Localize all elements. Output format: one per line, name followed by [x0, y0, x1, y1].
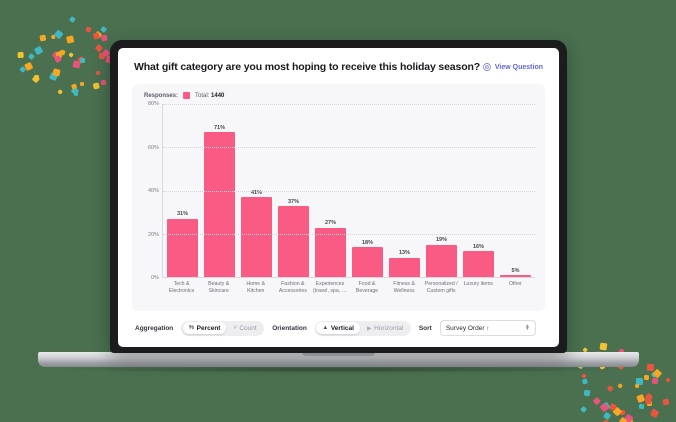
x-tick-label: Tech & Electronics	[163, 281, 200, 307]
bar[interactable]	[167, 219, 198, 277]
orientation-vertical-button[interactable]: ▲Vertical	[316, 322, 360, 334]
bar[interactable]	[315, 228, 346, 277]
bar-value-label: 19%	[436, 237, 447, 243]
x-tick-label: Beauty & Skincare	[200, 281, 237, 307]
orientation-horizontal-button[interactable]: ▶Horizontal	[361, 322, 409, 334]
bar-value-label: 18%	[362, 240, 373, 246]
y-tick-label: 20%	[148, 232, 159, 238]
orientation-toggle-group[interactable]: ▲Vertical▶Horizontal	[315, 321, 411, 336]
orientation-label: Orientation	[272, 325, 307, 332]
percent-icon: %	[189, 325, 194, 331]
aggregation-count-button[interactable]: #Count	[227, 322, 262, 334]
bar-value-label: 37%	[288, 199, 299, 205]
bar[interactable]	[278, 206, 309, 277]
gridline	[163, 191, 535, 192]
x-tick-label: Fitness & Wellness	[386, 281, 423, 307]
x-tick-label: Home & Kitchen	[237, 281, 274, 307]
bar-value-label: 5%	[512, 268, 520, 274]
chevron-updown-icon: ▲▼	[525, 325, 530, 331]
bar-value-label: 71%	[214, 125, 225, 131]
bar[interactable]	[204, 132, 235, 277]
plot-wrapper: 0%20%40%60%80% 31%71%41%37%27%18%13%19%1…	[140, 104, 535, 278]
bar[interactable]	[463, 251, 494, 277]
x-axis: Tech & ElectronicsBeauty & SkincareHome …	[162, 281, 535, 307]
legend-total-value: 1440	[211, 93, 224, 99]
bar-value-label: 31%	[177, 211, 188, 217]
bar[interactable]	[500, 275, 531, 277]
x-tick-label: Other	[497, 281, 534, 307]
y-tick-label: 80%	[148, 101, 159, 107]
bar-value-label: 16%	[473, 244, 484, 250]
bar[interactable]	[426, 245, 457, 277]
aggregation-toggle-group[interactable]: %Percent#Count	[181, 321, 264, 336]
bar[interactable]	[389, 258, 420, 277]
aggregation-percent-button[interactable]: %Percent	[183, 322, 227, 334]
view-question-button[interactable]: View Question	[483, 63, 543, 71]
laptop-screen: What gift category are you most hoping t…	[118, 48, 559, 347]
x-tick-label: Fashion & Accessories	[274, 281, 311, 307]
legend-responses-label: Responses:	[144, 93, 178, 99]
card-header: What gift category are you most hoping t…	[132, 61, 545, 73]
sort-select-value: Survey Order ↑	[446, 325, 490, 332]
y-tick-label: 0%	[151, 275, 159, 281]
x-tick-label: Luxury items	[460, 281, 497, 307]
y-tick-label: 60%	[148, 145, 159, 151]
page-title: What gift category are you most hoping t…	[134, 61, 480, 73]
orientation-option-label: Vertical	[331, 325, 354, 332]
legend-total: Total: 1440	[195, 93, 224, 99]
view-question-label: View Question	[495, 64, 543, 71]
chart-legend: Responses: Total: 1440	[140, 92, 535, 99]
sort-select[interactable]: Survey Order ↑ ▲▼	[440, 320, 536, 336]
sort-label: Sort	[419, 325, 432, 332]
gridline	[163, 104, 535, 105]
aggregation-option-label: Count	[239, 325, 256, 332]
gridline	[163, 234, 535, 235]
bar-value-label: 27%	[325, 220, 336, 226]
bar-vertical-icon: ▲	[322, 325, 328, 331]
aggregation-label: Aggregation	[135, 325, 173, 332]
laptop-lid: What gift category are you most hoping t…	[110, 40, 567, 353]
laptop-shadow	[52, 366, 624, 373]
aggregation-option-label: Percent	[197, 325, 221, 332]
laptop-mockup: What gift category are you most hoping t…	[0, 0, 676, 422]
orientation-option-label: Horizontal	[374, 325, 403, 332]
eye-icon	[483, 63, 491, 71]
bar[interactable]	[352, 247, 383, 277]
gridline	[163, 147, 535, 148]
y-axis: 0%20%40%60%80%	[140, 104, 162, 278]
hash-icon: #	[233, 325, 236, 331]
x-tick-label: Personalized / Custom gifts	[423, 281, 460, 307]
legend-total-prefix: Total:	[195, 93, 209, 99]
chart-panel: Responses: Total: 1440 0%20%40%60%80% 31…	[132, 84, 545, 311]
y-tick-label: 40%	[148, 188, 159, 194]
bar-horizontal-icon: ▶	[367, 325, 372, 332]
laptop-base	[38, 352, 639, 367]
bar-value-label: 13%	[399, 250, 410, 256]
plot-area: 31%71%41%37%27%18%13%19%16%5%	[162, 104, 535, 278]
x-tick-label: Experiences (travel, spa, …	[311, 281, 348, 307]
bar[interactable]	[241, 197, 272, 277]
legend-swatch	[183, 92, 190, 99]
chart-controls: Aggregation %Percent#Count Orientation ▲…	[132, 320, 545, 337]
survey-result-card: What gift category are you most hoping t…	[118, 48, 559, 347]
x-tick-label: Food & Beverage	[348, 281, 385, 307]
